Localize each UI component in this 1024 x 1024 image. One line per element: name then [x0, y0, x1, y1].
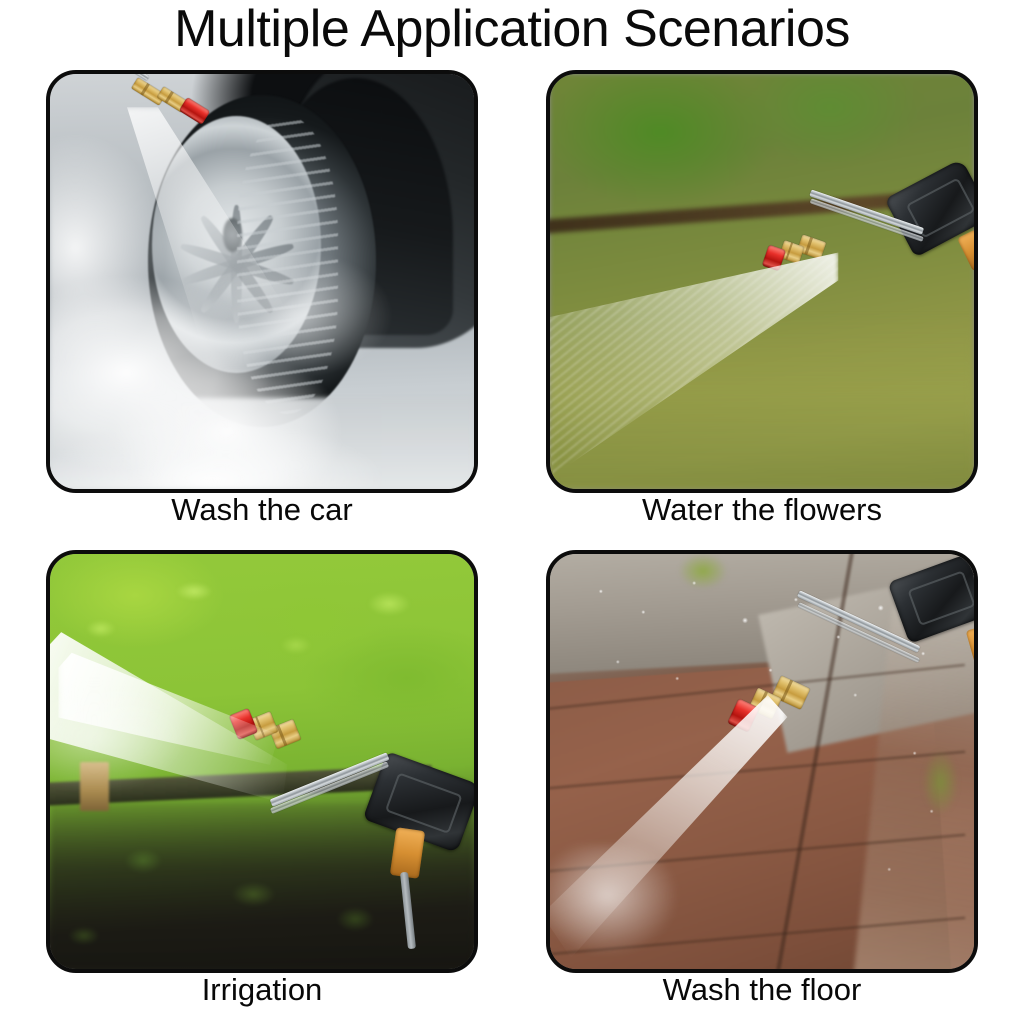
black-gun-body	[887, 554, 974, 644]
photo-frame-wash-the-floor[interactable]	[546, 550, 978, 973]
scenario-grid: Wash the car	[0, 62, 1024, 1024]
scenario-card-water-the-flowers[interactable]: Water the flowers	[546, 70, 978, 525]
photo-wash-the-car	[50, 74, 474, 489]
photo-water-the-flowers	[550, 74, 974, 489]
orange-hose-connector	[957, 229, 974, 271]
orange-hose-connector	[390, 827, 425, 879]
scenario-card-wash-the-floor[interactable]: Wash the floor	[546, 550, 978, 1005]
caption-irrigation: Irrigation	[46, 970, 478, 1010]
water-mist	[50, 679, 237, 820]
gun-grip-panel	[385, 772, 463, 834]
caption-wash-the-car: Wash the car	[46, 490, 478, 530]
spray-gun-assembly-floor	[694, 562, 974, 753]
water-jet-spread	[550, 845, 677, 970]
photo-wash-the-floor	[550, 554, 974, 969]
photo-frame-wash-the-car[interactable]	[46, 70, 478, 493]
caption-water-the-flowers: Water the flowers	[546, 490, 978, 530]
caption-wash-the-floor: Wash the floor	[546, 970, 978, 1010]
scenario-card-wash-the-car[interactable]: Wash the car	[46, 70, 478, 525]
photo-irrigation	[50, 554, 474, 969]
page-title: Multiple Application Scenarios	[0, 0, 1024, 62]
gray-hose	[400, 872, 416, 949]
photo-frame-water-the-flowers[interactable]	[546, 70, 978, 493]
orange-hose-connector	[966, 625, 974, 672]
scenario-card-irrigation[interactable]: Irrigation	[46, 550, 478, 1005]
spray-nozzle-assembly-car	[105, 74, 300, 182]
red-nozzle-tip	[179, 97, 211, 125]
gun-grip-panel	[907, 571, 974, 627]
photo-frame-irrigation[interactable]	[46, 550, 478, 973]
